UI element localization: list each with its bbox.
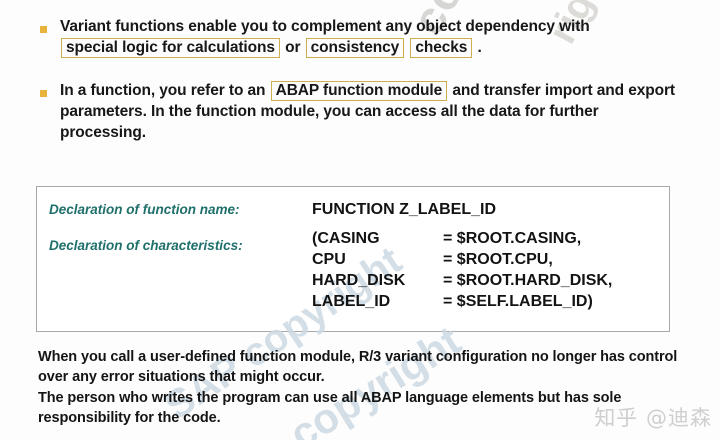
bullet-seg-or: or (281, 39, 305, 56)
code-line-casing: (CASING = $ROOT.CASING, (312, 228, 612, 249)
code-line-hard-disk: HARD_DISK = $ROOT.HARD_DISK, (312, 270, 612, 291)
label-declaration-of-characteristics: Declaration of characteristics: (49, 237, 309, 254)
code-param-name: (CASING (312, 228, 443, 249)
code-param-name: HARD_DISK (312, 270, 443, 291)
bullet-list: Variant functions enable you to compleme… (38, 16, 688, 157)
footer-paragraph-2: The person who writes the program can us… (38, 389, 688, 428)
code-param-value: = $ROOT.CPU, (443, 249, 553, 270)
bullet-item-variant-functions: Variant functions enable you to compleme… (38, 16, 688, 58)
bullet-seg-space (405, 39, 409, 56)
footer-note: When you call a user-defined function mo… (38, 348, 688, 428)
highlight-abap-function-module: ABAP function module (271, 81, 448, 101)
code-param-name: LABEL_ID (312, 291, 443, 312)
code-line-cpu: CPU = $ROOT.CPU, (312, 249, 612, 270)
bullet-seg-period: . (473, 39, 481, 56)
footer-paragraph-1: When you call a user-defined function mo… (38, 348, 688, 387)
bullet-text-abap-function-module: In a function, you refer to an ABAP func… (60, 80, 688, 143)
code-line-label-id: LABEL_ID = $SELF.LABEL_ID) (312, 291, 612, 312)
highlight-special-logic-for-calculations: special logic for calculations (61, 38, 280, 58)
highlight-checks: checks (410, 38, 472, 58)
code-panel-inner: SAP copyright Decision copyright Declara… (37, 187, 669, 331)
code-header-function-declaration: FUNCTION Z_LABEL_ID (312, 199, 612, 220)
square-bullet-icon (40, 90, 47, 97)
code-param-name: CPU (312, 249, 443, 270)
code-param-value: = $ROOT.CASING, (443, 228, 581, 249)
code-block: FUNCTION Z_LABEL_ID (CASING = $ROOT.CASI… (312, 199, 612, 312)
bullet-text-variant-functions: Variant functions enable you to compleme… (60, 16, 688, 58)
code-param-value: = $ROOT.HARD_DISK, (443, 270, 612, 291)
bullet-seg-text: Variant functions enable you to compleme… (60, 18, 590, 35)
declaration-labels: Declaration of function name: Declaratio… (49, 201, 309, 254)
bullet-seg-text: In a function, you refer to an (60, 82, 270, 99)
slide-canvas: copyright right Variant functions enable… (0, 0, 720, 440)
label-declaration-of-function-name: Declaration of function name: (49, 201, 309, 218)
code-param-value: = $SELF.LABEL_ID) (443, 291, 593, 312)
square-bullet-icon (40, 26, 47, 33)
bullet-item-abap-function-module: In a function, you refer to an ABAP func… (38, 80, 688, 143)
highlight-consistency: consistency (306, 38, 405, 58)
code-declaration-panel: SAP copyright Decision copyright Declara… (36, 186, 670, 332)
